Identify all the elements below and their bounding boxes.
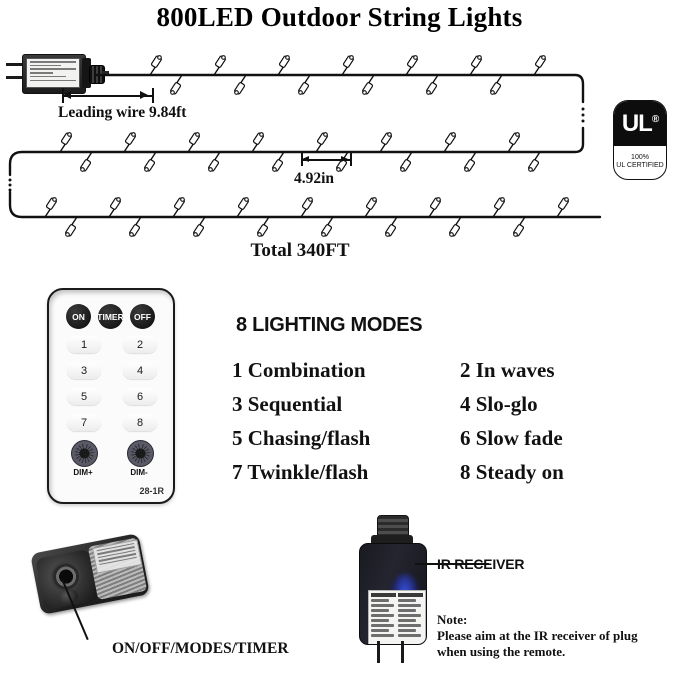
remote-button-6[interactable]: 6 — [123, 388, 157, 405]
mode-item-6: 6 Slow fade — [460, 426, 652, 451]
lighting-modes-list: 1 Combination 2 In waves 3 Sequential 4 … — [232, 358, 652, 485]
plug-pin-right — [401, 641, 404, 663]
leading-wire-dimension-line — [58, 88, 158, 104]
ir-receiver-plug-illustration — [355, 515, 431, 665]
remote-button-4[interactable]: 4 — [123, 362, 157, 379]
ul-percent: 100% — [631, 154, 649, 161]
ul-mark: UL® — [614, 101, 666, 146]
remote-button-5[interactable]: 5 — [67, 388, 101, 405]
remote-control[interactable]: ON TIMER OFF 1 2 3 4 5 6 7 8 DIM+ DIM- 2… — [47, 288, 175, 504]
remote-model-number: 28-1R — [139, 486, 164, 496]
dim-up-label: DIM+ — [66, 468, 100, 477]
mode-item-1: 1 Combination — [232, 358, 460, 383]
ir-receiver-label: IR RECEIVER — [437, 556, 524, 572]
registered-trademark-icon: ® — [652, 114, 658, 125]
mode-item-7: 7 Twinkle/flash — [232, 460, 460, 485]
note-line-1: Please aim at the IR receiver of plug — [437, 628, 677, 644]
mode-item-3: 3 Sequential — [232, 392, 460, 417]
dim-up-dial[interactable] — [71, 440, 98, 467]
remote-button-8[interactable]: 8 — [123, 414, 157, 431]
remote-timer-button[interactable]: TIMER — [98, 304, 123, 329]
mode-item-8: 8 Steady on — [460, 460, 652, 485]
note-title: Note: — [437, 612, 677, 628]
remote-button-2[interactable]: 2 — [123, 336, 157, 353]
mode-item-5: 5 Chasing/flash — [232, 426, 460, 451]
remote-on-button[interactable]: ON — [66, 304, 91, 329]
mode-item-4: 4 Slo-glo — [460, 392, 652, 417]
remote-off-button[interactable]: OFF — [130, 304, 155, 329]
lighting-modes-heading: 8 LIGHTING MODES — [236, 314, 422, 337]
bulb-spacing-dimension-line — [298, 152, 354, 167]
plug-label — [368, 590, 426, 645]
note-line-2: when using the remote. — [437, 644, 677, 660]
controller-connector-illustration — [25, 533, 175, 618]
ul-letters: UL — [622, 110, 652, 137]
connector-face — [35, 549, 98, 610]
page-title: 800LED Outdoor String Lights — [0, 2, 679, 33]
connector-button-label: ON/OFF/MODES/TIMER — [112, 640, 289, 658]
ir-note: Note: Please aim at the IR receiver of p… — [437, 612, 677, 660]
bulb-spacing-label: 4.92in — [294, 170, 334, 188]
plug-pin-left — [377, 641, 380, 663]
ul-certified-text: UL CERTIFIED — [616, 162, 663, 169]
dim-down-label: DIM- — [122, 468, 156, 477]
mode-item-2: 2 In waves — [460, 358, 652, 383]
string-light-diagram — [0, 40, 620, 240]
remote-button-7[interactable]: 7 — [67, 414, 101, 431]
ul-certification-badge: UL® 100% UL CERTIFIED — [613, 100, 667, 180]
plug-body — [359, 543, 427, 645]
connector-shell — [30, 533, 150, 615]
leading-wire-label: Leading wire 9.84ft — [58, 104, 186, 122]
remote-button-1[interactable]: 1 — [67, 336, 101, 353]
dim-down-dial[interactable] — [127, 440, 154, 467]
remote-button-3[interactable]: 3 — [67, 362, 101, 379]
total-length-label: Total 340FT — [0, 240, 600, 262]
